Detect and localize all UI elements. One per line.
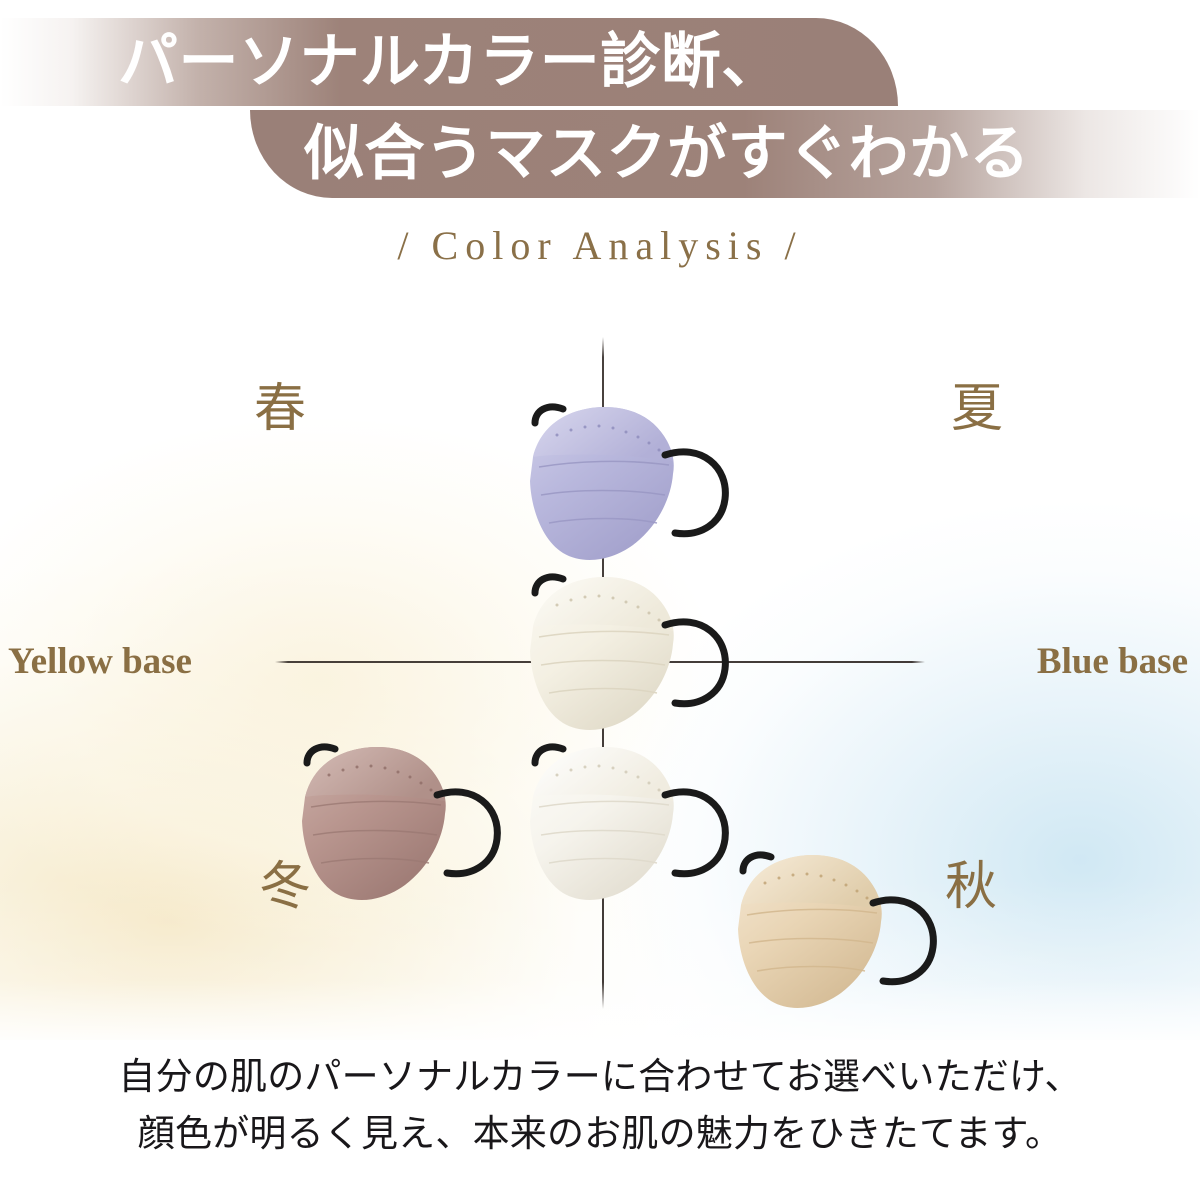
header-title-line1: パーソナルカラー診断、: [118, 32, 782, 92]
header-banner-line1: パーソナルカラー診断、: [0, 18, 898, 106]
quadrant-label-spring: 春: [254, 383, 306, 435]
beige-mask: [713, 843, 943, 1018]
infographic-canvas: パーソナルカラー診断、 似合うマスクがすぐわかる /Color Analysis…: [0, 0, 1200, 1200]
subtitle-slash-left: /: [381, 223, 431, 268]
header-banner-line2: 似合うマスクがすぐわかる: [250, 110, 1200, 198]
subtitle-text: Color Analysis: [432, 223, 769, 268]
header-title-line2: 似合うマスクがすぐわかる: [304, 124, 1030, 184]
axis-label-yellow-base: Yellow base: [8, 643, 192, 680]
footer-line-2: 顔色が明るく見え、本来のお肌の魅力をひきたてます。: [0, 1105, 1200, 1162]
white-mask: [505, 735, 735, 910]
subtitle-slash-right: /: [768, 223, 818, 268]
footer-description: 自分の肌のパーソナルカラーに合わせてお選べいただけ、 顔色が明るく見え、本来のお…: [0, 1048, 1200, 1163]
lavender-mask: [505, 395, 735, 570]
subtitle: /Color Analysis/: [0, 222, 1200, 269]
quadrant-label-summer: 夏: [951, 383, 1003, 435]
quadrant-label-autumn: 秋: [945, 861, 997, 913]
axis-label-blue-base: Blue base: [1037, 643, 1188, 680]
ivory-mask: [505, 565, 735, 740]
footer-line-1: 自分の肌のパーソナルカラーに合わせてお選べいただけ、: [0, 1048, 1200, 1105]
mauve-mask: [277, 735, 507, 910]
